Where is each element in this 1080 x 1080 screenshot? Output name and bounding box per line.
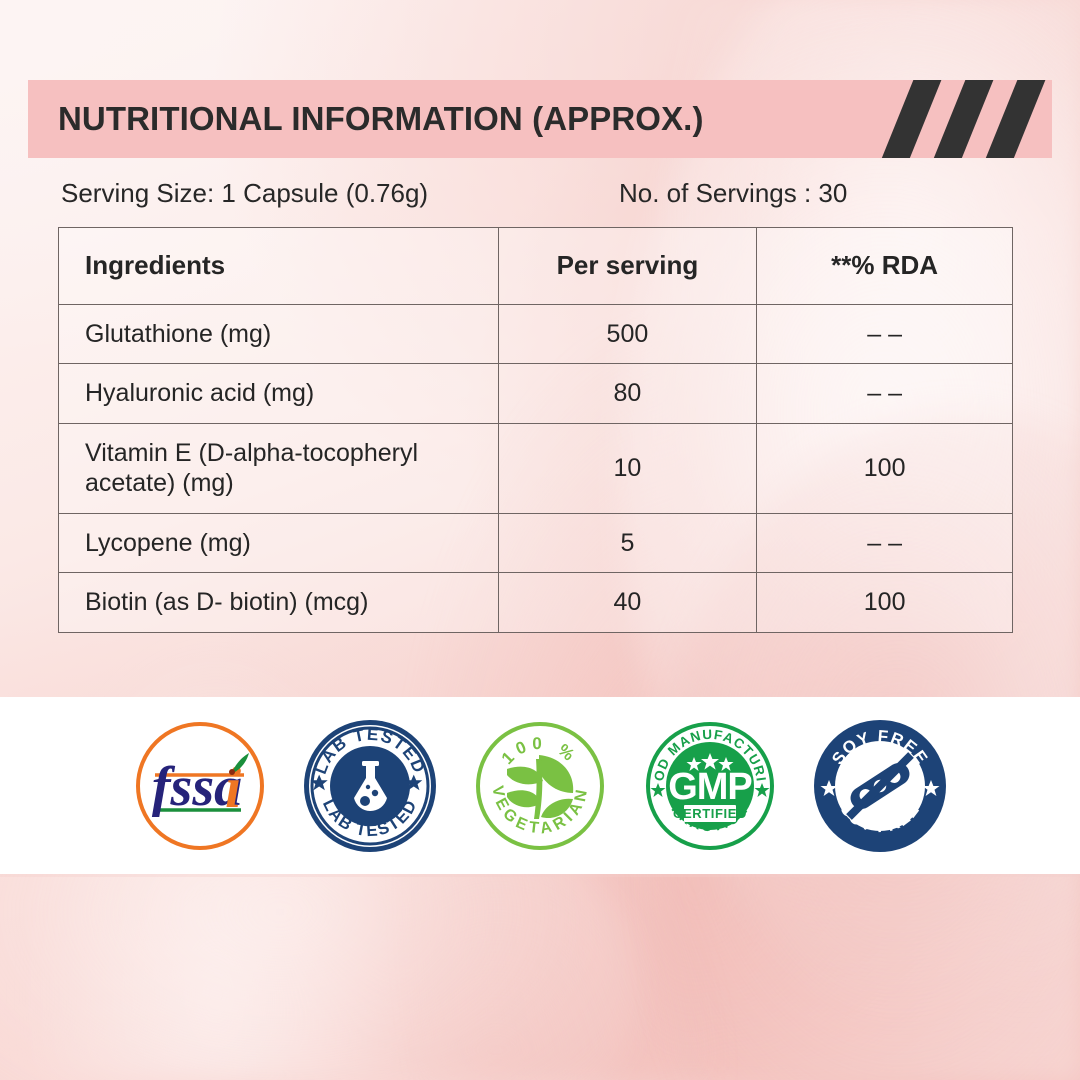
table-header-row: Ingredients Per serving **% RDA bbox=[59, 228, 1013, 305]
cell-per-serving: 10 bbox=[498, 423, 757, 513]
table-row: Lycopene (mg) 5 – – bbox=[59, 513, 1013, 573]
cell-rda: 100 bbox=[757, 423, 1013, 513]
servings-count-label: No. of Servings : 30 bbox=[619, 178, 847, 209]
table-row: Hyaluronic acid (mg) 80 – – bbox=[59, 364, 1013, 424]
cell-ingredient: Biotin (as D- biotin) (mcg) bbox=[59, 573, 499, 633]
diagonal-stripes-decoration bbox=[892, 80, 1052, 158]
page-title: NUTRITIONAL INFORMATION (APPROX.) bbox=[58, 100, 704, 138]
cell-per-serving: 40 bbox=[498, 573, 757, 633]
column-header-rda: **% RDA bbox=[757, 228, 1013, 305]
column-header-ingredients: Ingredients bbox=[59, 228, 499, 305]
fssai-badge: fssa i bbox=[129, 715, 271, 857]
stripe-1 bbox=[876, 80, 947, 158]
serving-size-label: Serving Size: 1 Capsule (0.76g) bbox=[61, 178, 428, 209]
table-row: Vitamin E (D-alpha-tocopheryl acetate) (… bbox=[59, 423, 1013, 513]
stripe-2 bbox=[928, 80, 999, 158]
stripe-3 bbox=[980, 80, 1051, 158]
gmp-badge: GOOD MANUFACTURING PRACTICE GMP CERTIFIE… bbox=[639, 715, 781, 857]
nutrition-table: Ingredients Per serving **% RDA Glutathi… bbox=[58, 227, 1013, 633]
certification-band: fssa i LAB TESTED LAB TESTED bbox=[0, 697, 1080, 874]
cell-per-serving: 500 bbox=[498, 304, 757, 364]
header-band: NUTRITIONAL INFORMATION (APPROX.) bbox=[28, 80, 1052, 158]
cell-ingredient: Hyaluronic acid (mg) bbox=[59, 364, 499, 424]
table-row: Glutathione (mg) 500 – – bbox=[59, 304, 1013, 364]
cell-per-serving: 80 bbox=[498, 364, 757, 424]
label-page: NUTRITIONAL INFORMATION (APPROX.) Servin… bbox=[0, 0, 1080, 1080]
soy-free-badge: SOY FREE SOY FREE bbox=[809, 715, 951, 857]
vegetarian-badge: 100 % VEGETARIAN bbox=[469, 715, 611, 857]
gmp-sub-text: CERTIFIED bbox=[673, 806, 747, 821]
serving-info-row: Serving Size: 1 Capsule (0.76g) No. of S… bbox=[58, 178, 1018, 218]
cell-rda: – – bbox=[757, 513, 1013, 573]
fssai-dot bbox=[229, 769, 235, 775]
cell-ingredient: Vitamin E (D-alpha-tocopheryl acetate) (… bbox=[59, 423, 499, 513]
gmp-center-text: GMP bbox=[668, 766, 752, 808]
cell-rda: – – bbox=[757, 304, 1013, 364]
cell-ingredient: Glutathione (mg) bbox=[59, 304, 499, 364]
column-header-per-serving: Per serving bbox=[498, 228, 757, 305]
cell-per-serving: 5 bbox=[498, 513, 757, 573]
lab-tested-badge: LAB TESTED LAB TESTED bbox=[299, 715, 441, 857]
cell-ingredient: Lycopene (mg) bbox=[59, 513, 499, 573]
band-edge-divider bbox=[0, 874, 1080, 877]
cell-rda: – – bbox=[757, 364, 1013, 424]
cell-rda: 100 bbox=[757, 573, 1013, 633]
table-row: Biotin (as D- biotin) (mcg) 40 100 bbox=[59, 573, 1013, 633]
